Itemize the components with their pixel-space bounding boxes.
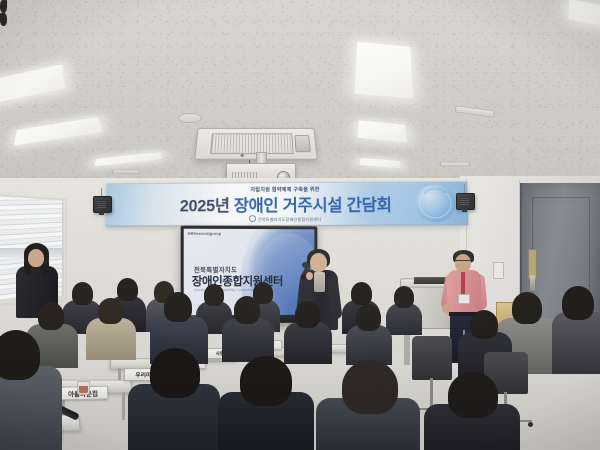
- banner-main-title: 2025년 장애인 거주시설 간담회: [106, 191, 468, 217]
- attendee-head: [356, 304, 381, 331]
- attendee-head: [351, 282, 372, 305]
- ceiling-smoke-detector: [178, 113, 202, 123]
- attendee-head: [562, 286, 594, 320]
- presenter-with-microphone: [0, 0, 7, 26]
- presenter-hand: [306, 272, 313, 280]
- org-logo-icon: [249, 215, 256, 222]
- door-handle[interactable]: [530, 275, 535, 291]
- eyeglasses-icon: [455, 260, 471, 264]
- banner-org-text: 전북특별자치도장애인종합지원센터: [258, 217, 321, 222]
- presenter-head: [310, 253, 327, 272]
- attendee-head: [98, 298, 123, 324]
- attendee-head: [240, 356, 292, 406]
- ceiling-vent: [112, 170, 140, 174]
- banner-organization: 전북특별자치도장애인종합지원센터: [106, 214, 469, 223]
- attendee-head: [448, 372, 498, 418]
- attendee-head: [470, 310, 498, 339]
- left-woman-head: [28, 249, 44, 267]
- attendee-head: [204, 284, 224, 306]
- ac-vent-knob: [294, 135, 310, 152]
- speaker-bracket: [99, 211, 104, 215]
- banner-title-text: 장애인 거주시설 간담회: [234, 197, 392, 216]
- podium-man-name-badge: [458, 294, 470, 304]
- attendee-head: [72, 282, 93, 305]
- podium-documents: [414, 277, 447, 284]
- attendee-head: [295, 301, 320, 328]
- attendee-head: [164, 292, 192, 322]
- attendee-shoulders: [552, 312, 600, 374]
- attendee-shoulders: [86, 318, 136, 360]
- podium-man-hand: [442, 304, 450, 313]
- attendee-head: [394, 286, 414, 308]
- light-switch[interactable]: [493, 262, 504, 279]
- ceiling: [0, 0, 600, 185]
- ceiling-vent: [440, 162, 470, 166]
- banner-year: 2025년: [180, 197, 234, 215]
- desk-leg: [122, 392, 125, 420]
- presenter-shirt: [314, 272, 325, 292]
- attendee-head: [38, 302, 64, 330]
- attendee-head: [512, 292, 542, 324]
- attendee-head: [0, 330, 40, 380]
- event-banner: 자립지원 협약체제 구축을 위한 2025년 장애인 거주시설 간담회 전북특별…: [106, 181, 469, 226]
- attendee-head: [342, 360, 398, 414]
- ceiling-light-panel: [355, 42, 413, 98]
- paper-cup: [77, 381, 90, 395]
- slide-logo: KBfinancialgroup: [188, 232, 221, 236]
- ac-indicator-dot: [241, 154, 244, 157]
- attendee-shoulders: [284, 322, 332, 364]
- microphone-head: [302, 262, 309, 268]
- chair-caster: [528, 422, 533, 427]
- conference-room-photo: 자립지원 협약체제 구축을 위한 2025년 장애인 거주시설 간담회 전북특별…: [0, 0, 600, 450]
- presenter-hair-side-right: [0, 13, 7, 26]
- attendee-head: [234, 296, 260, 324]
- attendee-head: [150, 348, 200, 398]
- office-chair-back[interactable]: [412, 336, 452, 380]
- attendee-head: [117, 278, 138, 301]
- speaker-bracket: [462, 208, 467, 212]
- ac-grille: [210, 133, 294, 154]
- presenter-hair-side-left: [0, 0, 7, 13]
- attendee-shoulders: [346, 325, 392, 365]
